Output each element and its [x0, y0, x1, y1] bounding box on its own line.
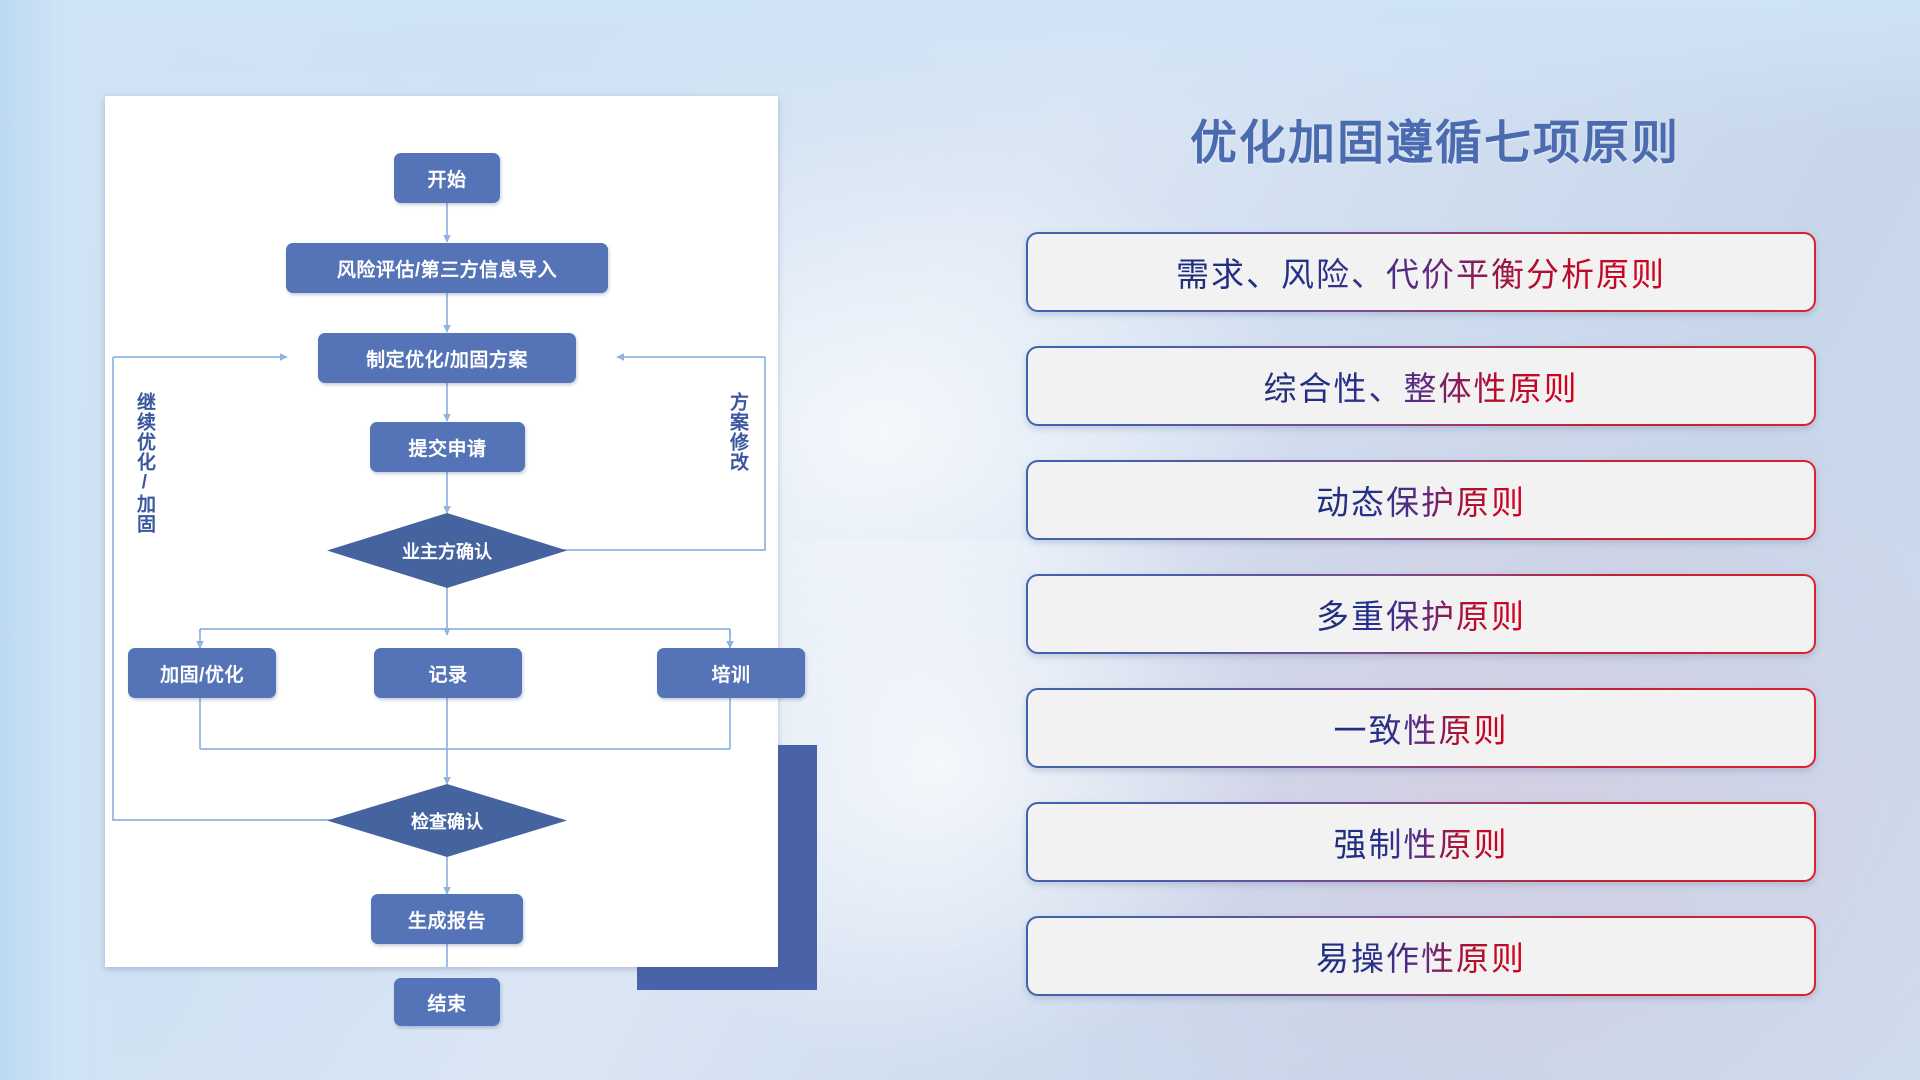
flow-node-end-label: 结束: [427, 989, 466, 1016]
principle-card-inner: 强制性原则: [1028, 804, 1814, 880]
flow-node-reinforce[interactable]: 加固/优化: [128, 648, 276, 698]
principle-card-1[interactable]: 需求、风险、代价平衡分析原则: [1026, 232, 1816, 312]
principle-card-3[interactable]: 动态保护原则: [1026, 460, 1816, 540]
principle-card-inner: 多重保护原则: [1028, 576, 1814, 652]
principle-label-7: 易操作性原则: [1316, 932, 1526, 980]
principle-label-4: 多重保护原则: [1316, 590, 1526, 638]
flow-node-reinforce-label: 加固/优化: [160, 660, 244, 687]
flow-node-plan[interactable]: 制定优化/加固方案: [318, 333, 576, 383]
principle-label-5: 一致性原则: [1334, 704, 1509, 752]
flow-node-risk-assessment-label: 风险评估/第三方信息导入: [337, 255, 557, 282]
flow-node-start-label: 开始: [427, 165, 466, 192]
flow-node-submit-application[interactable]: 提交申请: [370, 422, 525, 472]
flow-node-record-label: 记录: [428, 660, 467, 687]
flow-node-start[interactable]: 开始: [394, 153, 500, 203]
principle-card-2[interactable]: 综合性、整体性原则: [1026, 346, 1816, 426]
flow-node-plan-label: 制定优化/加固方案: [366, 345, 528, 372]
flow-node-training[interactable]: 培训: [657, 648, 805, 698]
principle-card-4[interactable]: 多重保护原则: [1026, 574, 1816, 654]
principle-card-inner: 动态保护原则: [1028, 462, 1814, 538]
principle-card-5[interactable]: 一致性原则: [1026, 688, 1816, 768]
principle-label-2: 综合性、整体性原则: [1264, 362, 1579, 410]
flowchart-inner: 开始 风险评估/第三方信息导入 制定优化/加固方案 提交申请 业主方确认 加固/…: [105, 96, 778, 967]
principle-label-1: 需求、风险、代价平衡分析原则: [1176, 248, 1666, 296]
page-title: 优化加固遵循七项原则: [1020, 104, 1850, 173]
background-left-band: [0, 0, 120, 1080]
slide-canvas: 开始 风险评估/第三方信息导入 制定优化/加固方案 提交申请 业主方确认 加固/…: [0, 0, 1920, 1080]
flowchart-card: 开始 风险评估/第三方信息导入 制定优化/加固方案 提交申请 业主方确认 加固/…: [105, 96, 778, 967]
flow-node-generate-report[interactable]: 生成报告: [371, 894, 523, 944]
flow-decision-check-confirm-label: 检查确认: [411, 808, 483, 834]
principle-label-6: 强制性原则: [1334, 818, 1509, 866]
principle-card-inner: 综合性、整体性原则: [1028, 348, 1814, 424]
flow-edge-label-continue-optimize: 继续优化/加固: [134, 392, 154, 534]
flow-node-generate-report-label: 生成报告: [408, 906, 486, 933]
principle-label-3: 动态保护原则: [1316, 476, 1526, 524]
flow-node-record[interactable]: 记录: [374, 648, 522, 698]
principle-card-7[interactable]: 易操作性原则: [1026, 916, 1816, 996]
flow-node-submit-application-label: 提交申请: [408, 434, 486, 461]
principle-card-inner: 一致性原则: [1028, 690, 1814, 766]
flow-node-risk-assessment[interactable]: 风险评估/第三方信息导入: [286, 243, 608, 293]
principle-card-inner: 易操作性原则: [1028, 918, 1814, 994]
flow-decision-owner-confirm[interactable]: 业主方确认: [327, 513, 567, 588]
flow-edge-label-plan-revision: 方案修改: [727, 392, 747, 472]
principles-panel: 优化加固遵循七项原则 需求、风险、代价平衡分析原则 综合性、整体性原则 动态保护…: [1020, 0, 1850, 1080]
flow-decision-owner-confirm-label: 业主方确认: [402, 538, 492, 564]
principle-card-inner: 需求、风险、代价平衡分析原则: [1028, 234, 1814, 310]
flow-decision-check-confirm[interactable]: 检查确认: [327, 784, 567, 857]
flow-node-end[interactable]: 结束: [394, 978, 500, 1026]
principles-list: 需求、风险、代价平衡分析原则 综合性、整体性原则 动态保护原则 多重保护原则: [1026, 232, 1816, 1030]
principle-card-6[interactable]: 强制性原则: [1026, 802, 1816, 882]
flow-node-training-label: 培训: [711, 660, 750, 687]
